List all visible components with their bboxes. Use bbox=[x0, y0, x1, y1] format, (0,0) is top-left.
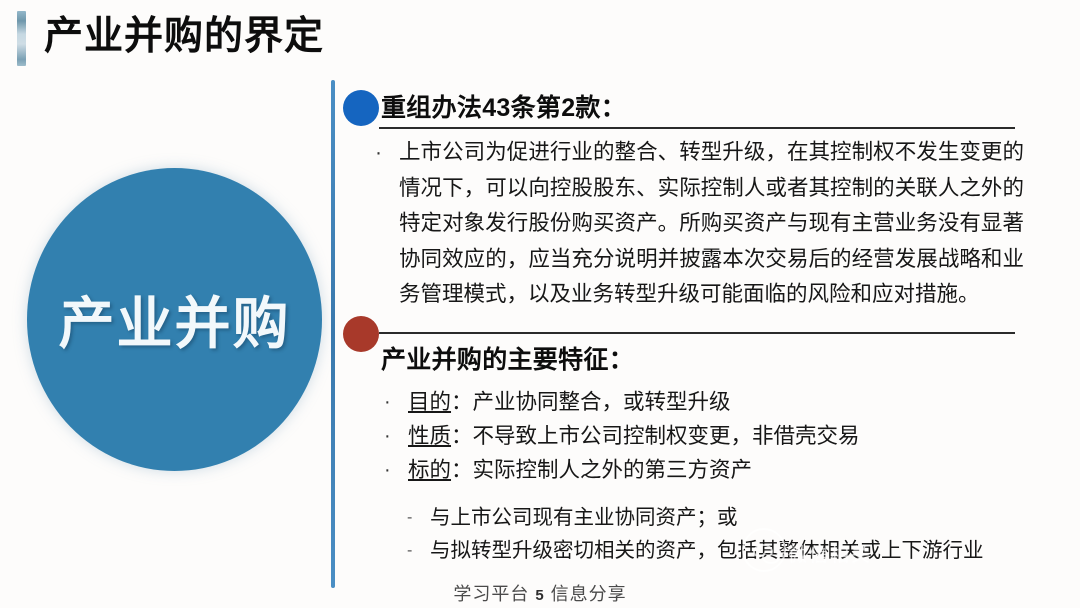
list-item: ·性质：不导致上市公司控制权变更，非借壳交易 bbox=[382, 419, 1022, 453]
list-item: -与上市公司现有主业协同资产；或 bbox=[404, 501, 1064, 534]
slide-canvas: 产业并购的界定 产业并购 重组办法43条第2款： ·上市公司为促进行业的整合、转… bbox=[0, 0, 1080, 608]
feature-sub-list: -与上市公司现有主业协同资产；或 -与拟转型升级密切相关的资产，包括其整体相关或… bbox=[404, 501, 1064, 567]
list-item: ·标的：实际控制人之外的第三方资产 bbox=[382, 453, 1022, 487]
footer-page-number: 5 bbox=[535, 587, 544, 604]
feature-label: 标的 bbox=[408, 458, 451, 482]
sub-item-text: 与拟转型升级密切相关的资产，包括其整体相关或上下游行业 bbox=[430, 539, 984, 562]
feature-separator: ： bbox=[451, 458, 473, 482]
section2-heading: 产业并购的主要特征： bbox=[381, 340, 634, 376]
feature-separator: ： bbox=[451, 390, 473, 414]
content-column: 重组办法43条第2款： ·上市公司为促进行业的整合、转型升级，在其控制权不发生变… bbox=[0, 0, 1080, 608]
feature-separator: ： bbox=[451, 424, 473, 448]
section1-paragraph: ·上市公司为促进行业的整合、转型升级，在其控制权不发生变更的情况下，可以向控股股… bbox=[399, 135, 1024, 313]
list-item: -与拟转型升级密切相关的资产，包括其整体相关或上下游行业 bbox=[404, 534, 1064, 567]
feature-tick: · bbox=[384, 385, 391, 419]
footer: 学习平台5信息分享 bbox=[0, 580, 1080, 606]
section2-bullet-circle-icon bbox=[343, 316, 379, 352]
section1-paragraph-tick: · bbox=[375, 135, 382, 171]
section1-underline bbox=[379, 127, 1015, 129]
sub-item-text: 与上市公司现有主业协同资产；或 bbox=[430, 506, 738, 529]
feature-label: 目的 bbox=[408, 390, 451, 414]
section1-bullet-circle-icon bbox=[343, 90, 379, 126]
feature-text: 产业协同整合，或转型升级 bbox=[473, 390, 731, 414]
footer-right-text: 信息分享 bbox=[551, 584, 627, 604]
feature-tick: · bbox=[384, 419, 391, 453]
sub-tick: - bbox=[407, 501, 412, 534]
section1-heading: 重组办法43条第2款： bbox=[381, 88, 626, 124]
section1-paragraph-text: 上市公司为促进行业的整合、转型升级，在其控制权不发生变更的情况下，可以向控股股东… bbox=[399, 140, 1024, 306]
list-item: ·目的：产业协同整合，或转型升级 bbox=[382, 385, 1022, 419]
feature-label: 性质 bbox=[408, 424, 451, 448]
feature-tick: · bbox=[384, 453, 391, 487]
feature-list: ·目的：产业协同整合，或转型升级 ·性质：不导致上市公司控制权变更，非借壳交易 … bbox=[382, 385, 1022, 487]
footer-left-text: 学习平台 bbox=[453, 584, 529, 604]
sub-tick: - bbox=[407, 534, 412, 567]
feature-text: 实际控制人之外的第三方资产 bbox=[473, 458, 753, 482]
feature-text: 不导致上市公司控制权变更，非借壳交易 bbox=[473, 424, 860, 448]
section2-topline bbox=[379, 332, 1015, 334]
